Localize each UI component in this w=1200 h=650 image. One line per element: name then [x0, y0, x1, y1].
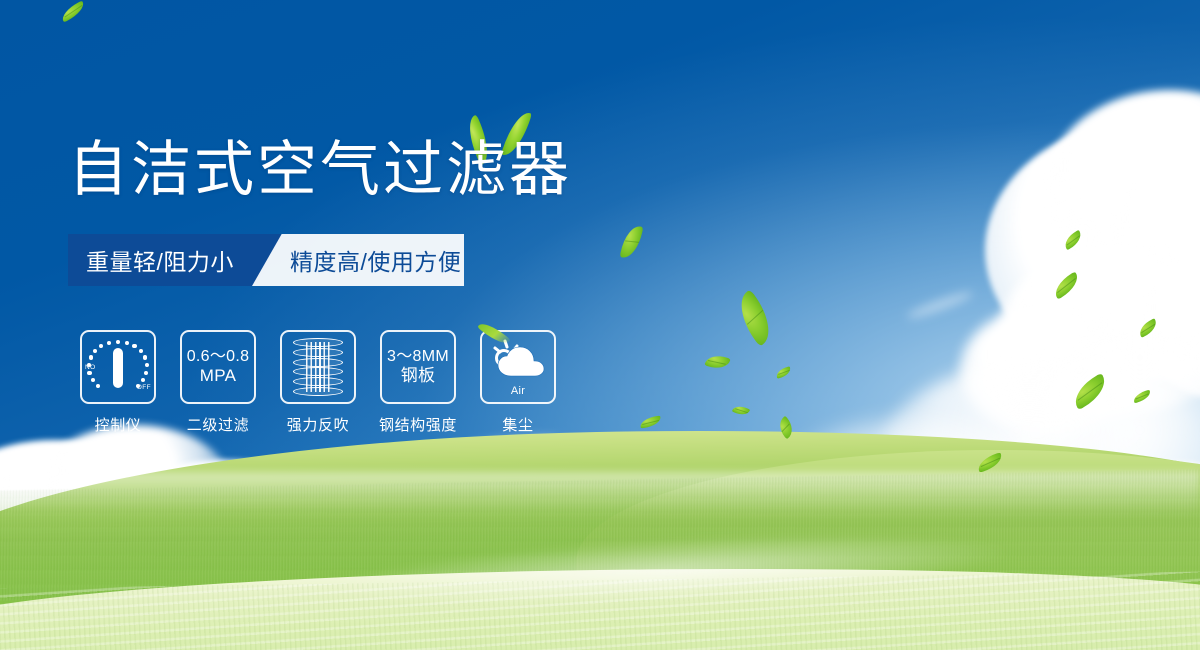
pressure-value-line: 0.6～0.8 — [187, 348, 250, 367]
feature-icon-box: NO OFF — [80, 330, 156, 404]
feature-label: 钢结构强度 — [379, 414, 457, 435]
feature-item-blowback[interactable]: 强力反吹 — [268, 330, 368, 435]
product-banner: 自洁式空气过滤器 重量轻/阻力小 精度高/使用方便 — [0, 0, 1200, 650]
steel-plate-text-icon: 3～8MM 钢板 — [387, 348, 449, 386]
feature-item-dust[interactable]: Air 集尘 — [468, 330, 568, 435]
gauge-off-label: OFF — [137, 384, 151, 391]
control-gauge-icon: NO OFF — [87, 337, 149, 397]
steel-material-line: 钢板 — [387, 366, 449, 386]
feature-item-steel[interactable]: 3～8MM 钢板 钢结构强度 — [368, 330, 468, 435]
banner-content: 自洁式空气过滤器 重量轻/阻力小 精度高/使用方便 — [0, 0, 1200, 650]
subtitle-right-text: 精度高/使用方便 — [290, 243, 461, 277]
feature-icon-box — [280, 330, 356, 404]
subtitle-left-panel: 重量轻/阻力小 — [68, 234, 283, 286]
feature-label: 二级过滤 — [187, 414, 249, 435]
feature-icon-box: 0.6～0.8 MPA — [180, 330, 256, 404]
air-cloud-icon: Air — [487, 338, 549, 396]
feature-list: NO OFF 控制仪 0.6～0.8 MPA 二级过滤 — [68, 330, 568, 435]
feature-label: 强力反吹 — [287, 414, 349, 435]
feature-icon-box: Air — [480, 330, 556, 404]
feature-label: 集尘 — [502, 414, 533, 435]
banner-title: 自洁式空气过滤器 — [68, 140, 572, 200]
feature-item-pressure[interactable]: 0.6～0.8 MPA 二级过滤 — [168, 330, 268, 435]
subtitle-bar: 重量轻/阻力小 精度高/使用方便 — [68, 234, 464, 286]
subtitle-left-text: 重量轻/阻力小 — [86, 243, 234, 277]
gauge-needle-icon — [113, 348, 123, 388]
feature-label: 控制仪 — [95, 414, 142, 435]
pressure-unit-line: MPA — [187, 366, 250, 386]
subtitle-right-panel: 精度高/使用方便 — [252, 234, 464, 286]
feature-item-control[interactable]: NO OFF 控制仪 — [68, 330, 168, 435]
gauge-on-label: NO — [85, 364, 96, 371]
steel-thickness-line: 3～8MM — [387, 348, 449, 367]
cloud-sun-glyph — [487, 338, 549, 382]
blowback-filter-icon — [293, 338, 343, 396]
pressure-text-icon: 0.6～0.8 MPA — [187, 348, 250, 386]
air-label: Air — [487, 385, 549, 397]
feature-icon-box: 3～8MM 钢板 — [380, 330, 456, 404]
